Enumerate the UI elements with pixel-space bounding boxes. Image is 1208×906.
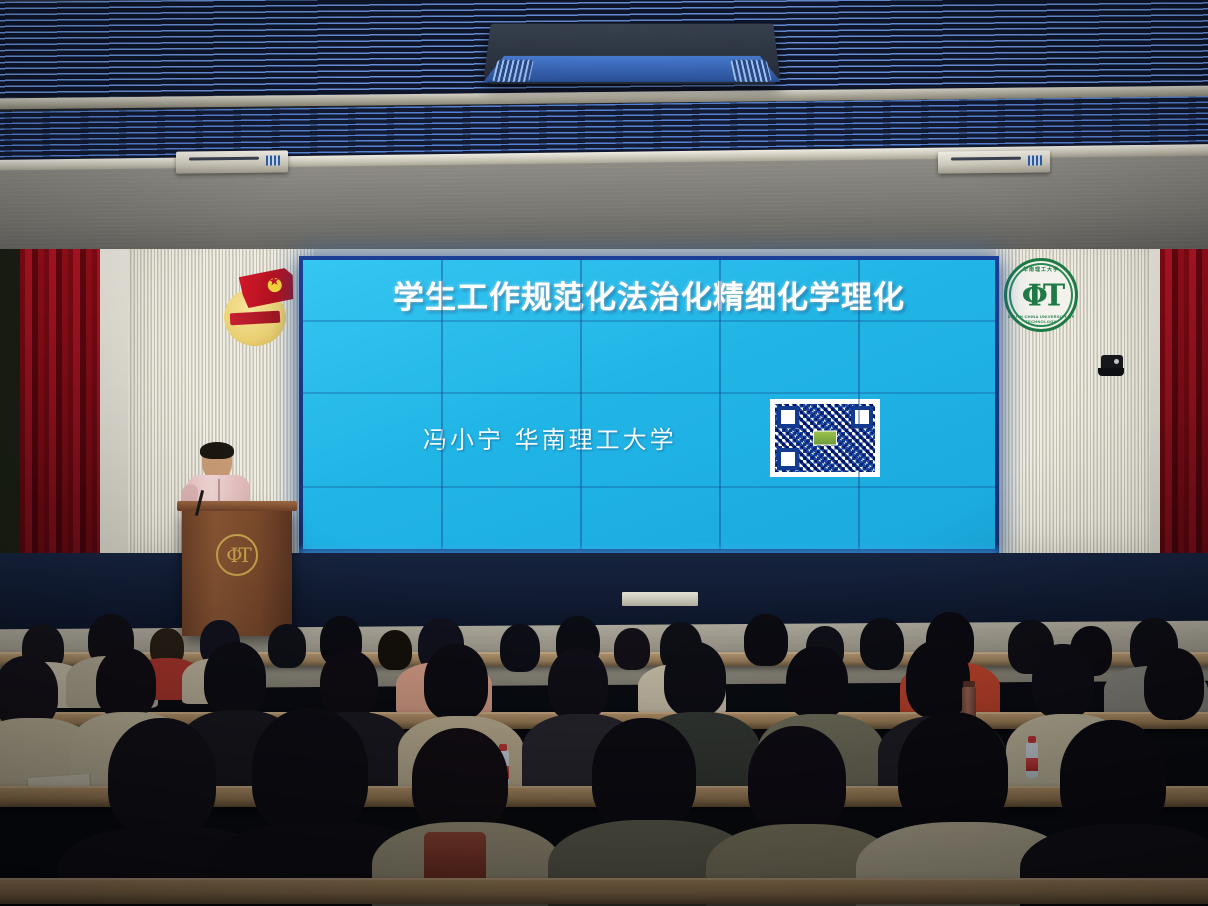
qr-code-icon[interactable] [770, 399, 880, 477]
lecture-hall-scene: 华南理工大学 ΦΤ SOUTH CHINA UNIVERSITY OF TECH… [0, 0, 1208, 906]
audience-head [378, 630, 412, 670]
audience-head [268, 624, 306, 668]
audience-head [1144, 648, 1204, 720]
audience-head [412, 728, 508, 832]
presentation-slide[interactable]: 学生工作规范化法治化精细化学理化 冯小宁 华南理工大学 [303, 260, 995, 549]
communist-youth-league-emblem-icon [220, 268, 298, 348]
audience-head [906, 640, 970, 718]
slide-subtitle: 冯小宁 华南理工大学 [423, 420, 677, 455]
audience-head [96, 648, 156, 718]
audience-head [204, 642, 266, 716]
camera-lens-icon [1114, 359, 1119, 364]
audience-head [614, 628, 650, 670]
scut-arc-top: 华南理工大学 [1007, 266, 1075, 273]
audience-head [860, 618, 904, 670]
led-video-wall[interactable]: 学生工作规范化法治化精细化学理化 冯小宁 华南理工大学 [299, 256, 999, 553]
scut-arc-bottom: SOUTH CHINA UNIVERSITY OF TECHNOLOGY [1007, 314, 1075, 324]
emblem-flag [238, 267, 295, 308]
audience-head [320, 650, 378, 718]
audience-head [1032, 644, 1094, 718]
qr-finder-bottom-left [777, 448, 799, 470]
ceiling [0, 0, 1208, 250]
qr-center-logo [813, 431, 837, 446]
audience-head [1060, 720, 1166, 836]
audience-head [664, 642, 726, 716]
emblem-star-icon [267, 277, 282, 292]
wall-flat-left [95, 249, 131, 569]
presenter-hair [200, 442, 234, 459]
audience-head [786, 646, 848, 718]
scut-university-logo-icon: 华南理工大学 ΦΤ SOUTH CHINA UNIVERSITY OF TECH… [1004, 258, 1078, 332]
audience-area [0, 600, 1208, 906]
audience-head [898, 712, 1008, 832]
speaker-grill-left-icon [492, 60, 534, 82]
audience-head [748, 726, 846, 834]
ceiling-speaker-housing [483, 24, 781, 84]
audience-head [424, 644, 488, 720]
qr-code-pattern [775, 404, 875, 472]
lectern-top [177, 501, 297, 511]
audience-head [548, 648, 608, 720]
audience-head [500, 624, 540, 672]
wall-camera-icon [1101, 355, 1123, 371]
qr-finder-top-right [851, 406, 873, 428]
audience-head [592, 718, 696, 830]
desk-row-4 [0, 878, 1208, 904]
water-bottle [1026, 742, 1038, 778]
air-diffuser-right [938, 150, 1050, 173]
audience-head [108, 718, 216, 836]
air-diffuser-left [176, 150, 288, 173]
audience-head [252, 708, 368, 834]
lectern-emblem-icon [216, 534, 258, 576]
scut-monogram: ΦΤ [1022, 279, 1060, 314]
slide-title: 学生工作规范化法治化精细化学理化 [303, 272, 995, 317]
qr-finder-top-left [777, 406, 799, 428]
speaker-grill-right-icon [730, 60, 772, 82]
audience-head [744, 614, 788, 666]
